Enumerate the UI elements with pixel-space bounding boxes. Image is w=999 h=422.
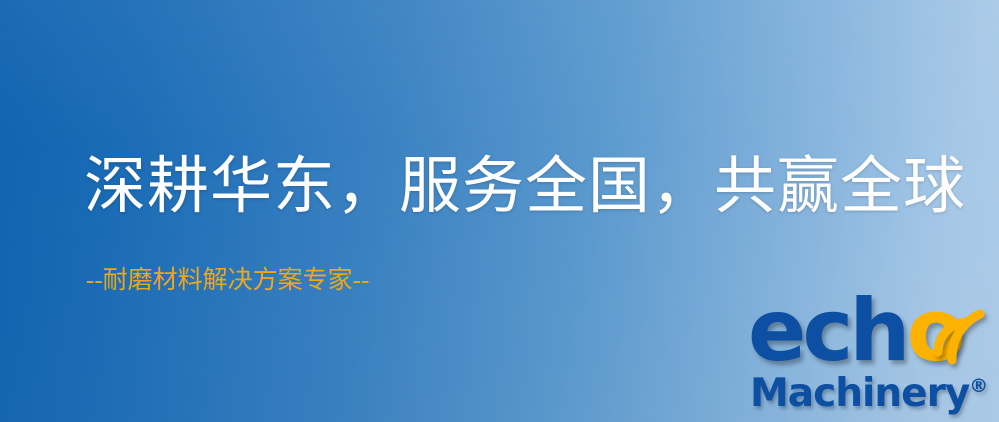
banner-subtitle: --耐磨材料解决方案专家-- xyxy=(86,268,369,293)
logo-tagline-text: Machinery xyxy=(750,371,969,416)
promo-banner: 深耕华东，服务全国，共赢全球 --耐磨材料解决方案专家-- echo Machi… xyxy=(0,0,999,422)
logo-wordmark-prefix: ech xyxy=(748,281,907,381)
echo-machinery-logo: echo Machinery® xyxy=(748,294,999,422)
banner-headline: 深耕华东，服务全国，共赢全球 xyxy=(84,156,966,218)
signal-waves-icon xyxy=(908,292,998,372)
registered-trademark-icon: ® xyxy=(969,375,988,397)
logo-tagline: Machinery® xyxy=(750,374,988,413)
